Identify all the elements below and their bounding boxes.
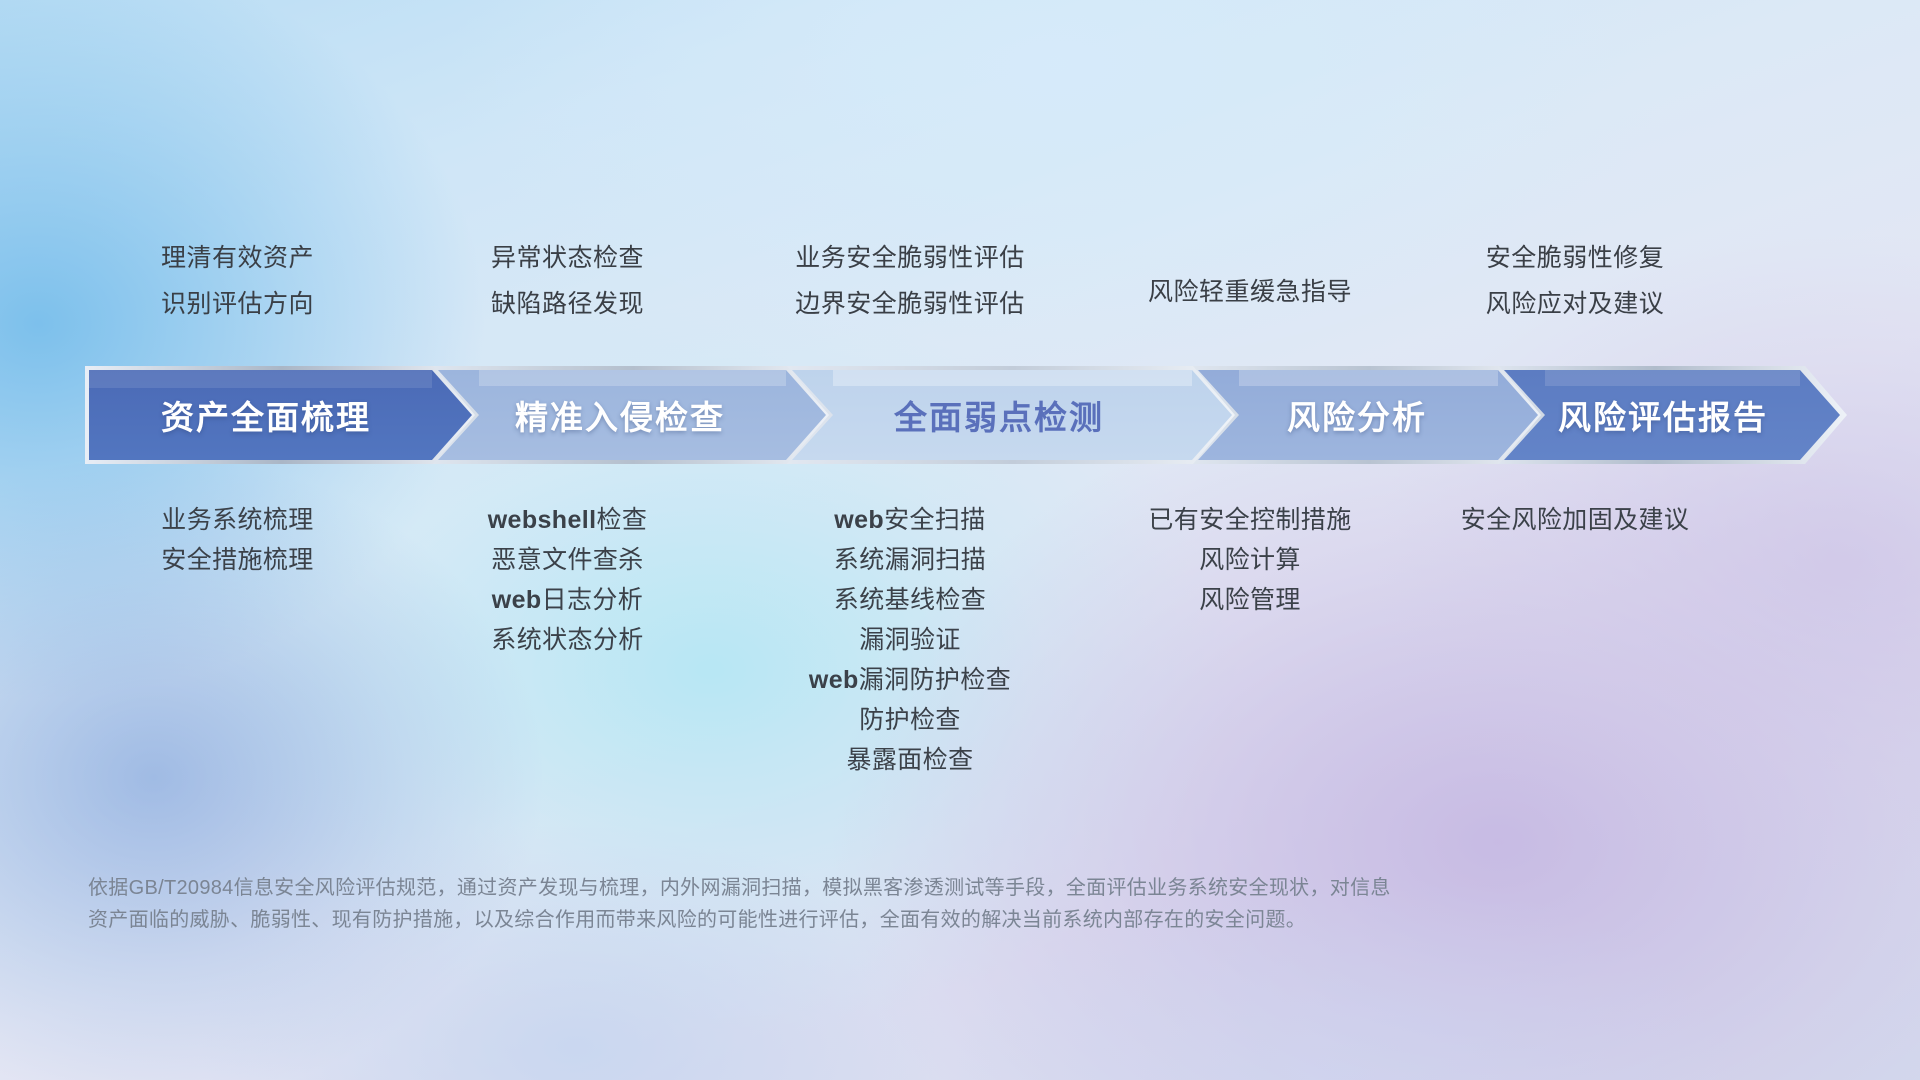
below-label: 安全风险加固及建议 (1461, 500, 1690, 540)
footer-line-2: 资产面临的威胁、脆弱性、现有防护措施，以及综合作用而带来风险的可能性进行评估，全… (88, 904, 1838, 936)
above-label: 风险轻重缓急指导 (1148, 270, 1352, 316)
below-labels-weakness-detection: web安全扫描 系统漏洞扫描 系统基线检查 漏洞验证 web漏洞防护检查 防护检… (745, 500, 1075, 780)
below-label-emphasis: web (492, 586, 542, 614)
process-step-label: 资产全面梳理 (161, 391, 371, 439)
column-gap (1075, 236, 1115, 327)
below-labels-risk-report: 安全风险加固及建议 (1425, 500, 1725, 780)
below-label: 风险管理 (1199, 580, 1301, 620)
column-gap (1385, 236, 1425, 327)
below-label: web安全扫描 (834, 500, 985, 540)
below-label-emphasis: web (809, 666, 859, 694)
below-label-emphasis: web (834, 506, 884, 534)
column-gap (1075, 500, 1115, 780)
process-step-label: 全面弱点检测 (894, 391, 1104, 439)
above-label: 安全脆弱性修复 (1486, 236, 1665, 282)
process-step-label: 精准入侵检查 (515, 391, 725, 439)
above-label: 识别评估方向 (161, 282, 314, 328)
above-labels-risk-report: 安全脆弱性修复 风险应对及建议 (1425, 236, 1725, 327)
below-label: 系统状态分析 (491, 620, 643, 660)
process-diagram: 理清有效资产 识别评估方向 异常状态检查 缺陷路径发现 业务安全脆弱性评估 边界… (0, 0, 1920, 1080)
below-label: 系统漏洞扫描 (834, 540, 986, 580)
above-label: 边界安全脆弱性评估 (795, 282, 1025, 328)
process-step-label: 风险评估报告 (1558, 391, 1768, 439)
below-labels-intrusion-check: webshell检查 恶意文件查杀 web日志分析 系统状态分析 (430, 500, 705, 780)
column-gap (390, 500, 430, 780)
process-arrow-band: 资产全面梳理 精准入侵检查 (85, 366, 1847, 464)
column-gap (1385, 500, 1425, 780)
above-label: 缺陷路径发现 (491, 282, 644, 328)
below-label: 已有安全控制措施 (1148, 500, 1351, 540)
process-step-asset-inventory[interactable]: 资产全面梳理 (85, 366, 479, 464)
footer-line-1: 依据GB/T20984信息安全风险评估规范，通过资产发现与梳理，内外网漏洞扫描，… (88, 872, 1838, 904)
below-labels-asset-inventory: 业务系统梳理 安全措施梳理 (85, 500, 390, 780)
footer-description: 依据GB/T20984信息安全风险评估规范，通过资产发现与梳理，内外网漏洞扫描，… (88, 872, 1838, 937)
process-step-risk-report[interactable]: 风险评估报告 (1499, 366, 1847, 464)
below-label: 暴露面检查 (846, 740, 973, 780)
below-label: web漏洞防护检查 (809, 660, 1011, 700)
above-label: 理清有效资产 (161, 236, 314, 282)
process-step-intrusion-check[interactable]: 精准入侵检查 (433, 366, 833, 464)
column-gap (705, 236, 745, 327)
below-label: web日志分析 (492, 580, 643, 620)
above-labels-row: 理清有效资产 识别评估方向 异常状态检查 缺陷路径发现 业务安全脆弱性评估 边界… (85, 236, 1860, 327)
below-label: 漏洞验证 (859, 620, 961, 660)
below-label-rest: 安全扫描 (884, 506, 986, 534)
below-label: webshell检查 (488, 500, 648, 540)
below-label-rest: 日志分析 (542, 586, 644, 614)
above-label: 异常状态检查 (491, 236, 644, 282)
below-label: 安全措施梳理 (161, 540, 313, 580)
above-labels-intrusion-check: 异常状态检查 缺陷路径发现 (430, 236, 705, 327)
above-labels-risk-analysis: 风险轻重缓急指导 (1115, 236, 1385, 327)
below-label: 防护检查 (859, 700, 961, 740)
process-step-weakness-detection[interactable]: 全面弱点检测 (787, 366, 1239, 464)
below-label: 业务系统梳理 (161, 500, 313, 540)
below-label-rest: 漏洞防护检查 (859, 666, 1011, 694)
above-label: 业务安全脆弱性评估 (795, 236, 1025, 282)
below-labels-row: 业务系统梳理 安全措施梳理 webshell检查 恶意文件查杀 web日志分析 … (85, 500, 1860, 780)
above-labels-asset-inventory: 理清有效资产 识别评估方向 (85, 236, 390, 327)
above-label: 风险应对及建议 (1486, 282, 1665, 328)
below-label-rest: 检查 (596, 506, 647, 534)
below-labels-risk-analysis: 已有安全控制措施 风险计算 风险管理 (1115, 500, 1385, 780)
column-gap (705, 500, 745, 780)
column-gap (390, 236, 430, 327)
below-label-emphasis: webshell (488, 506, 597, 534)
below-label: 系统基线检查 (834, 580, 986, 620)
above-labels-weakness-detection: 业务安全脆弱性评估 边界安全脆弱性评估 (745, 236, 1075, 327)
below-label: 风险计算 (1199, 540, 1301, 580)
process-step-risk-analysis[interactable]: 风险分析 (1193, 366, 1545, 464)
process-step-label: 风险分析 (1287, 391, 1427, 439)
below-label: 恶意文件查杀 (491, 540, 643, 580)
